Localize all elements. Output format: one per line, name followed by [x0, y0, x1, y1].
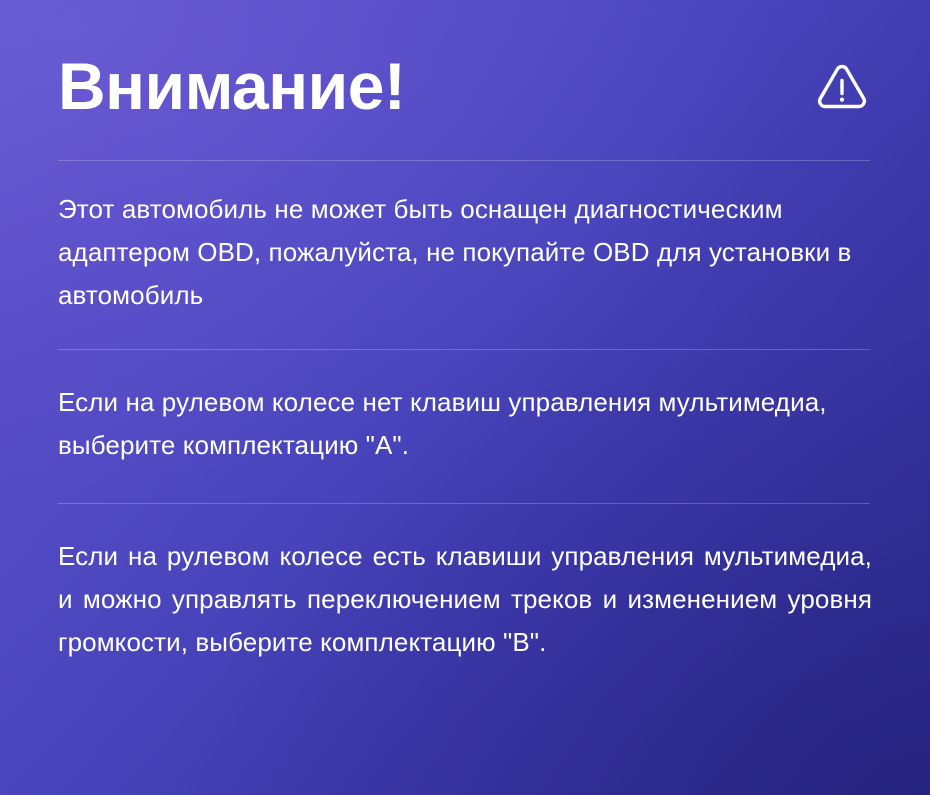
notice-block-obd-warning: Этот автомобиль не может быть оснащен ди…: [58, 161, 872, 349]
page-title: Внимание!: [58, 53, 405, 119]
notice-block-trim-b: Если на рулевом колесе есть клавиши упра…: [58, 504, 872, 664]
notice-header: Внимание!: [58, 0, 870, 160]
warning-notice-card: Внимание! Этот автомобиль не может быть …: [0, 0, 930, 795]
notice-block-text: Если на рулевом колесе есть клавиши упра…: [58, 535, 872, 664]
notice-block-trim-a: Если на рулевом колесе нет клавиш управл…: [58, 350, 872, 503]
warning-triangle-icon: [816, 60, 868, 112]
notice-block-text: Этот автомобиль не может быть оснащен ди…: [58, 188, 872, 317]
notice-block-text: Если на рулевом колесе нет клавиш управл…: [58, 381, 872, 467]
